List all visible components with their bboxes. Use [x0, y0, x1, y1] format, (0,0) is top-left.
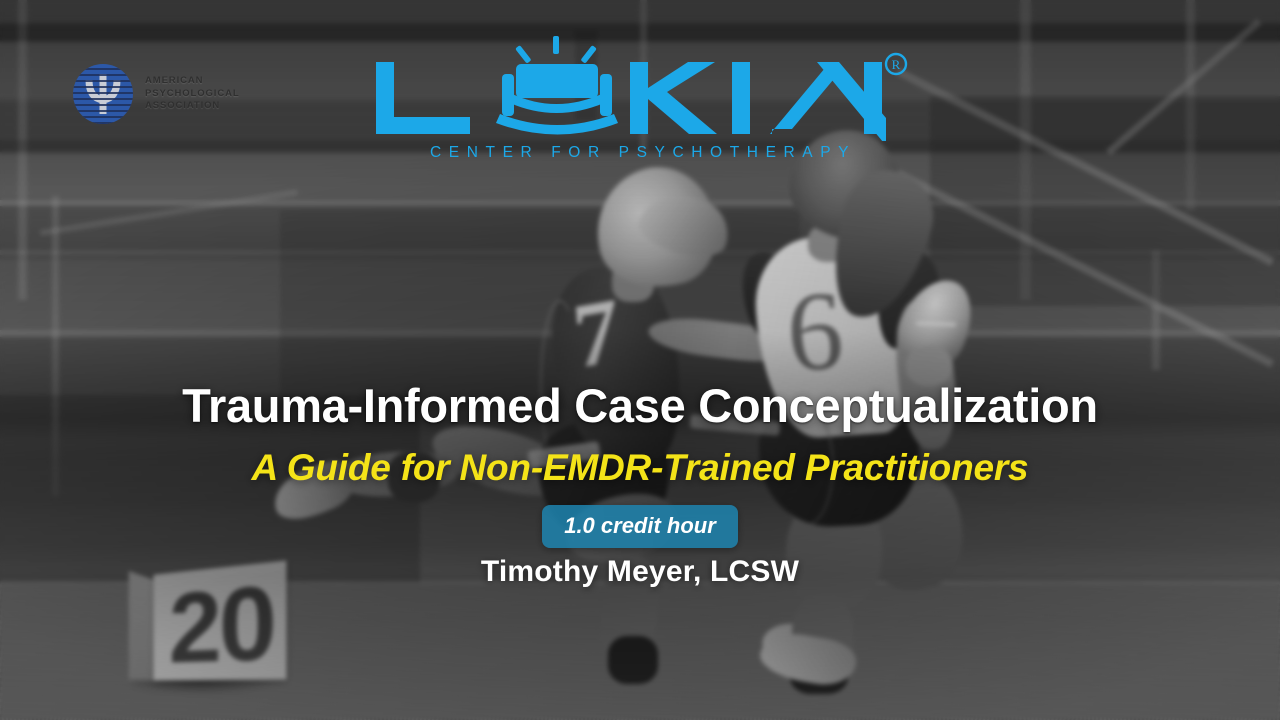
- apa-logo-text: AMERICAN PSYCHOLOGICAL ASSOCIATION: [145, 75, 240, 113]
- credit-badge-container: 1.0 credit hour: [0, 505, 1280, 548]
- presenter-name: Timothy Meyer, LCSW: [0, 555, 1280, 589]
- lokin-brand-logo: R CENTER FOR PSYCHOTHERAPY: [374, 36, 914, 166]
- couch-with-rays-icon: [496, 36, 618, 135]
- lokin-wordmark-icon: R: [374, 36, 914, 141]
- slide-subtitle: A Guide for Non-EMDR-Trained Practitione…: [0, 447, 1280, 489]
- lokin-tagline: CENTER FOR PSYCHOTHERAPY: [430, 144, 856, 162]
- slide-title: Trauma-Informed Case Conceptualization: [0, 378, 1280, 433]
- apa-accreditation-logo: AMERICAN PSYCHOLOGICAL ASSOCIATION: [73, 64, 240, 124]
- title-slide: 7 6: [0, 0, 1280, 720]
- credit-hour-badge: 1.0 credit hour: [542, 505, 738, 548]
- apa-psi-circle-icon: [73, 64, 133, 124]
- svg-text:R: R: [892, 57, 901, 72]
